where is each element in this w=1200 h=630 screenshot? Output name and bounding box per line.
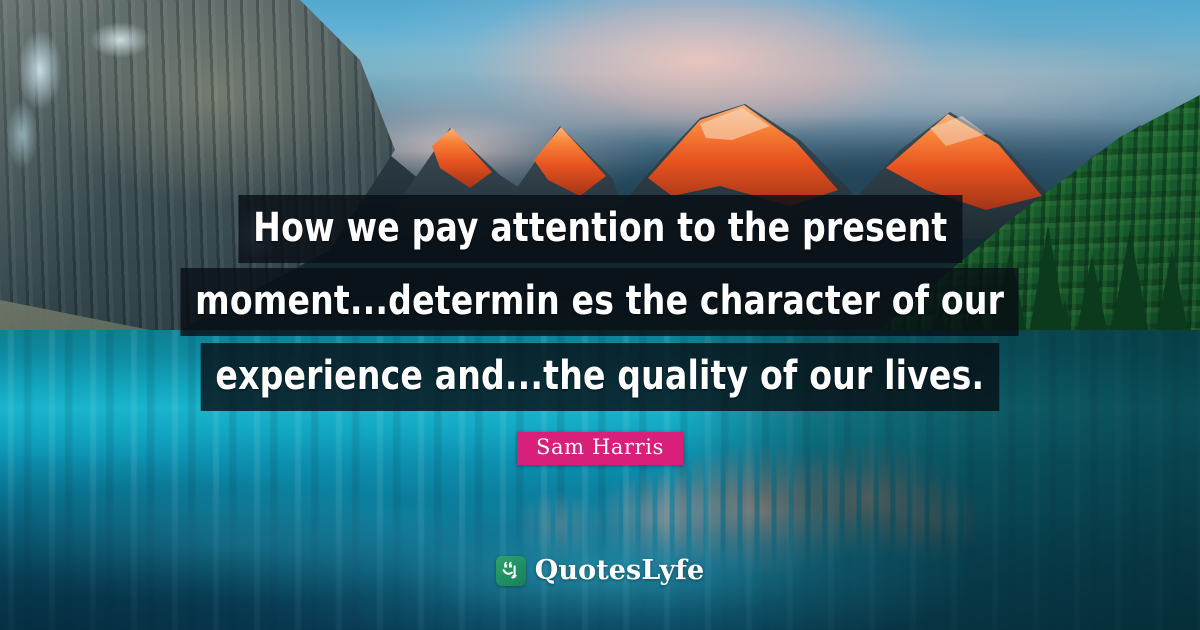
- quote-line-3: experience and...the quality of our live…: [201, 343, 999, 411]
- brand-name: QuotesLyfe: [535, 556, 705, 586]
- quote-smiley-icon: [496, 556, 526, 586]
- quote-text: How we pay attention to the present mome…: [0, 195, 1200, 411]
- brand-logo[interactable]: QuotesLyfe: [0, 556, 1200, 586]
- quote-card: How we pay attention to the present mome…: [0, 0, 1200, 630]
- author-badge[interactable]: Sam Harris: [517, 432, 683, 465]
- quote-line-2: moment...determin es the character of ou…: [181, 268, 1019, 336]
- author-attribution: Sam Harris: [0, 432, 1200, 465]
- quote-line-1: How we pay attention to the present: [238, 195, 962, 263]
